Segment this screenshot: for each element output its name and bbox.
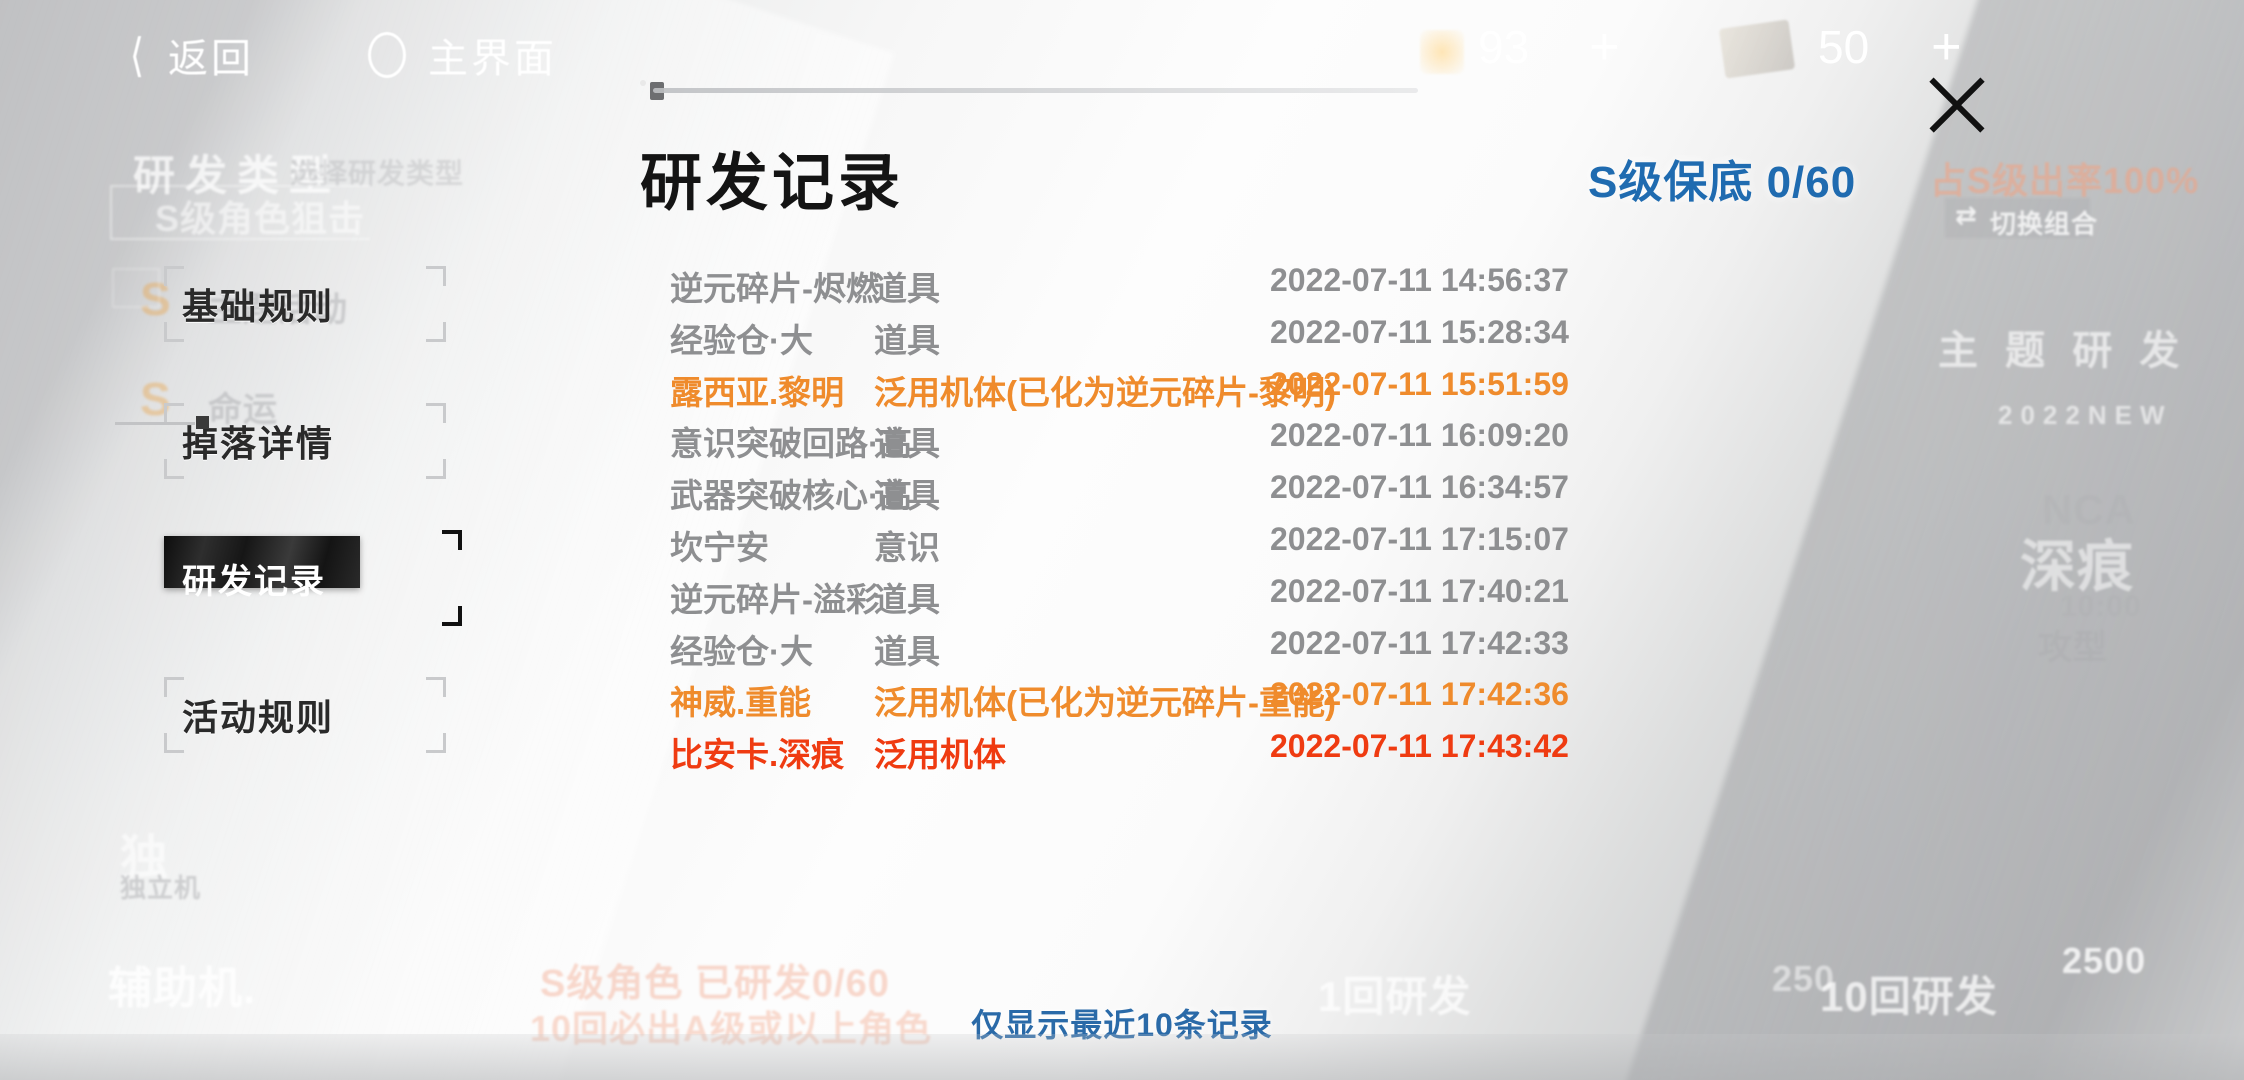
table-row: 露西亚.黎明泛用机体(已化为逆元碎片-黎明)2022-07-11 15:51:5… [670, 366, 1870, 418]
currency-ticket-value: 50 [1818, 20, 1869, 74]
pity-counter: S级保底 0/60 [1588, 146, 1856, 210]
record-name: 比安卡.深痕 [670, 728, 844, 776]
sidebar-item-drop-details[interactable]: 掉落详情 [150, 407, 440, 475]
sidebar-item-basic-rules[interactable]: 基础规则 [150, 270, 440, 338]
sidebar-item-research-record[interactable]: 研发记录 [150, 544, 440, 612]
home-button[interactable]: 主界面 [368, 26, 557, 84]
bracket-bottom-left [164, 459, 184, 479]
table-row: 比安卡.深痕泛用机体2022-07-11 17:43:42 [670, 728, 1870, 780]
currency-gem-plus[interactable]: + [1589, 24, 1619, 71]
bg-banner-name: S级角色狙击 [155, 190, 365, 242]
home-button-label: 主界面 [428, 26, 557, 84]
top-bar: ⟨ 返回 主界面 93 + 50 + [0, 0, 2244, 104]
record-time: 2022-07-11 15:28:34 [1270, 314, 1569, 351]
bracket-top-left [164, 403, 184, 423]
bracket-bottom-left [164, 733, 184, 753]
record-time: 2022-07-11 17:43:42 [1270, 728, 1569, 765]
sidebar-menu: 基础规则 掉落详情 研发记录 活动规则 [150, 270, 440, 818]
bracket-top-right [426, 403, 446, 423]
bracket-top-right [426, 266, 446, 286]
records-table: 逆元碎片-烬燃道具2022-07-11 14:56:37经验仓·大道具2022-… [670, 262, 1870, 780]
currency-gem-value: 93 [1478, 20, 1529, 74]
bracket-bottom-right [426, 322, 446, 342]
record-time: 2022-07-11 16:34:57 [1270, 469, 1569, 506]
top-progress-bar[interactable] [653, 88, 1418, 93]
chevron-left-icon: ⟨ [130, 32, 144, 78]
table-row: 坎宁安意识2022-07-11 17:15:07 [670, 521, 1870, 573]
back-button-label: 返回 [168, 26, 254, 84]
record-time: 2022-07-11 16:09:20 [1270, 417, 1569, 454]
bracket-bottom-right [426, 459, 446, 479]
bracket-bottom-left [164, 322, 184, 342]
circle-icon [368, 32, 406, 78]
back-button[interactable]: ⟨ 返回 [128, 26, 254, 84]
table-row: 武器突破核心·高道具2022-07-11 16:34:57 [670, 469, 1870, 521]
active-item-pointer-line [115, 422, 195, 425]
bg-new-tag: 2022NEW [1998, 400, 2173, 431]
bracket-top-right [426, 677, 446, 697]
ticket-icon [1719, 19, 1795, 78]
table-row: 神威.重能泛用机体(已化为逆元碎片-重能)2022-07-11 17:42:36 [670, 676, 1870, 728]
table-row: 经验仓·大道具2022-07-11 15:28:34 [670, 314, 1870, 366]
record-time: 2022-07-11 17:42:36 [1270, 676, 1569, 713]
bg-solo-sub: 独立机 [120, 868, 201, 905]
bracket-top-left [164, 266, 184, 286]
record-time: 2022-07-11 15:51:59 [1270, 366, 1569, 403]
bg-time-note: 10:00 [2060, 590, 2142, 624]
table-row: 逆元碎片-溢彩道具2022-07-11 17:40:21 [670, 573, 1870, 625]
table-row: 意识突破回路·高道具2022-07-11 16:09:20 [670, 417, 1870, 469]
page-title: 研发记录 [640, 132, 904, 222]
table-row: 逆元碎片-烬燃道具2022-07-11 14:56:37 [670, 262, 1870, 314]
record-time: 2022-07-11 17:42:33 [1270, 625, 1569, 662]
record-type: 道具 [874, 417, 940, 465]
record-name: 经验仓·大 [670, 625, 813, 673]
progress-dot [640, 80, 646, 86]
record-type: 道具 [874, 625, 940, 673]
bracket-bottom-right [442, 606, 462, 626]
record-type: 泛用机体(已化为逆元碎片-重能) [874, 676, 1336, 724]
bracket-top-left [164, 677, 184, 697]
record-type: 泛用机体(已化为逆元碎片-黎明) [874, 366, 1336, 414]
bg-pull10-cost: 2500 [2062, 940, 2146, 982]
record-type: 意识 [874, 521, 940, 569]
record-type: 道具 [874, 314, 940, 362]
record-name: 坎宁安 [670, 521, 769, 569]
table-row: 经验仓·大道具2022-07-11 17:42:33 [670, 625, 1870, 677]
gem-icon [1420, 30, 1464, 74]
record-name: 逆元碎片-烬燃 [670, 262, 879, 310]
bg-assist-label: 辅助机. [108, 952, 256, 1016]
record-type: 道具 [874, 573, 940, 621]
currency-gem[interactable]: 93 + [1478, 20, 1620, 74]
record-time: 2022-07-11 17:15:07 [1270, 521, 1569, 558]
active-item-pointer-dot [196, 416, 209, 429]
record-type: 泛用机体 [874, 728, 1006, 776]
sidebar-item-label: 研发记录 [150, 554, 326, 603]
record-name: 神威.重能 [670, 676, 811, 724]
record-name: 逆元碎片-溢彩 [670, 573, 879, 621]
bottom-strip [0, 1034, 2244, 1080]
record-name: 露西亚.黎明 [670, 366, 844, 414]
record-name: 经验仓·大 [670, 314, 813, 362]
bracket-bottom-right [426, 733, 446, 753]
sidebar-item-activity-rules[interactable]: 活动规则 [150, 681, 440, 749]
record-type: 道具 [874, 469, 940, 517]
record-time: 2022-07-11 14:56:37 [1270, 262, 1569, 299]
bracket-top-right [442, 530, 462, 550]
bg-attack-type: 攻型 [2038, 620, 2108, 669]
record-type: 道具 [874, 262, 940, 310]
record-time: 2022-07-11 17:40:21 [1270, 573, 1569, 610]
